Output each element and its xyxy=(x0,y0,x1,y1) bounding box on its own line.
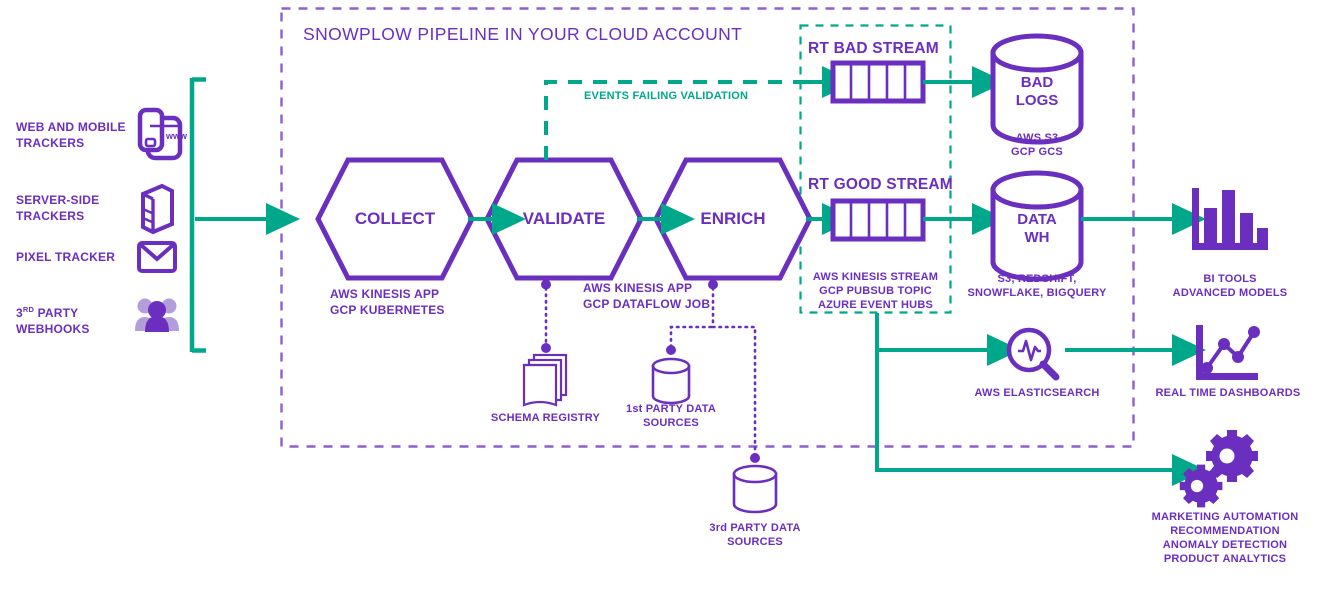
server-icon xyxy=(143,186,172,232)
rt-bad-stream-box[interactable] xyxy=(833,63,923,101)
documents-stack-icon xyxy=(524,355,566,405)
source-label-webhooks: 3RD PARTYWEBHOOKS xyxy=(16,302,126,337)
rt-good-stream-title: RT GOOD STREAM xyxy=(808,175,958,194)
bi-tools-label: BI TOOLSADVANCED MODELS xyxy=(1146,272,1314,300)
sources-bracket xyxy=(192,78,206,352)
web-mobile-devices-icon: www xyxy=(140,110,188,158)
first-party-db-icon xyxy=(653,359,689,403)
stage-label-validate: VALIDATE xyxy=(487,209,641,229)
line-chart-icon xyxy=(1196,325,1260,380)
third-party-db-icon xyxy=(734,466,776,512)
data-wh-label: DATAWH xyxy=(993,211,1081,247)
marketing-outputs-label: MARKETING AUTOMATIONRECOMMENDATIONANOMAL… xyxy=(1134,510,1316,566)
bad-logs-tech: AWS S3GCP GCS xyxy=(977,131,1097,159)
first-party-sources-label: 1st PARTY DATASOURCES xyxy=(615,402,727,430)
gears-icon xyxy=(1180,430,1258,507)
rt-bad-stream-title: RT BAD STREAM xyxy=(808,39,958,58)
svg-text:www: www xyxy=(165,131,188,141)
people-group-icon xyxy=(135,299,179,333)
envelope-icon xyxy=(139,243,175,271)
elasticsearch-label: AWS ELASTICSEARCH xyxy=(962,386,1112,400)
dashboards-label: REAL TIME DASHBOARDS xyxy=(1140,386,1316,400)
page-title: SNOWPLOW PIPELINE IN YOUR CLOUD ACCOUNT xyxy=(303,24,742,45)
source-label-server-side: SERVER-SIDETRACKERS xyxy=(16,193,126,224)
stage-tech-validate: AWS KINESIS APPGCP DATAFLOW JOB xyxy=(583,281,773,312)
source-label-web-mobile: WEB AND MOBILETRACKERS xyxy=(16,120,126,151)
data-wh-tech: S3, REDSHIFT,SNOWFLAKE, BIGQUERY xyxy=(957,272,1117,300)
first-party-elbow xyxy=(671,327,713,347)
third-party-sources-label: 3rd PARTY DATASOURCES xyxy=(699,521,811,549)
magnifier-pulse-icon xyxy=(1009,330,1056,377)
rt-good-stream-tech: AWS KINESIS STREAMGCP PUBSUB TOPICAZURE … xyxy=(800,270,951,312)
failing-validation-label: EVENTS FAILING VALIDATION xyxy=(584,89,804,103)
stage-label-collect: COLLECT xyxy=(318,209,472,229)
source-label-pixel-tracker: PIXEL TRACKER xyxy=(16,250,131,266)
stage-label-enrich: ENRICH xyxy=(656,209,810,229)
rt-good-stream-box[interactable] xyxy=(833,201,923,239)
bar-chart-icon xyxy=(1192,188,1268,250)
stage-tech-collect: AWS KINESIS APPGCP KUBERNETES xyxy=(330,287,520,318)
diagram-canvas: www xyxy=(0,0,1317,592)
first-party-branch xyxy=(713,327,755,455)
schema-registry-label: SCHEMA REGISTRY xyxy=(480,411,611,425)
bad-logs-label: BADLOGS xyxy=(993,74,1081,110)
